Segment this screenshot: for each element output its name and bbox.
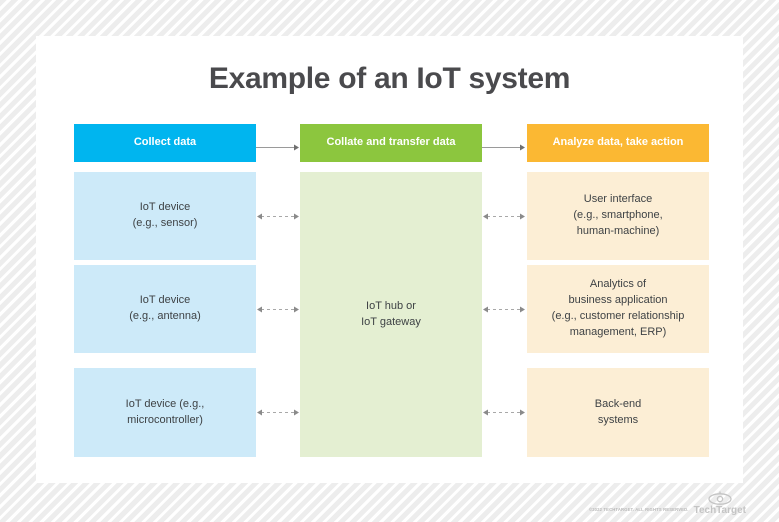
connector-hub-to-analyze-1 [482, 212, 526, 221]
arrow-collate-to-analyze [482, 143, 526, 152]
page-title: Example of an IoT system [36, 62, 743, 96]
connector-collect-2-to-hub [256, 305, 300, 314]
copyright-text: ©2022 TECHTARGET. ALL RIGHTS RESERVED. [589, 507, 689, 516]
collect-item-1: IoT device (e.g., sensor) [74, 172, 256, 260]
techtarget-logo: TechTarget [694, 491, 746, 516]
analyze-item-2: Analytics of business application (e.g.,… [527, 265, 709, 353]
analyze-item-1: User interface (e.g., smartphone, human-… [527, 172, 709, 260]
techtarget-wordmark: TechTarget [694, 506, 746, 516]
connector-collect-3-to-hub [256, 408, 300, 417]
connector-hub-to-analyze-2 [482, 305, 526, 314]
techtarget-eye-icon [707, 491, 733, 505]
connector-hub-to-analyze-3 [482, 408, 526, 417]
arrow-collect-to-collate [256, 143, 300, 152]
diagram-card: Example of an IoT system Collect data Co… [36, 36, 743, 483]
connector-collect-1-to-hub [256, 212, 300, 221]
analyze-item-3: Back-end systems [527, 368, 709, 457]
header-collect-data: Collect data [74, 124, 256, 162]
header-collate-transfer-data: Collate and transfer data [300, 124, 482, 162]
footer-watermark: ©2022 TECHTARGET. ALL RIGHTS RESERVED. T… [589, 491, 746, 516]
header-analyze-data-take-action: Analyze data, take action [527, 124, 709, 162]
collate-item-1: IoT hub or IoT gateway [300, 172, 482, 457]
collect-item-3: IoT device (e.g., microcontroller) [74, 368, 256, 457]
collect-item-2: IoT device (e.g., antenna) [74, 265, 256, 353]
